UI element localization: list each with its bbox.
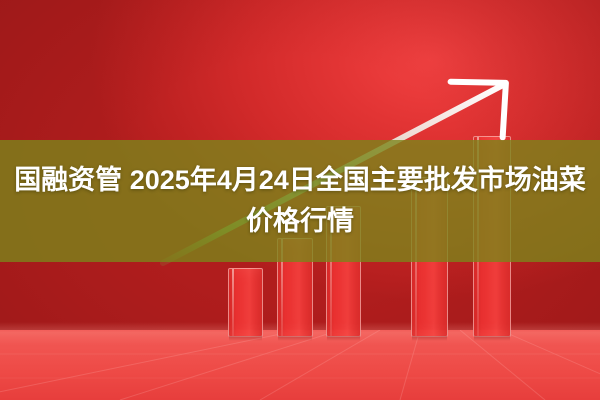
banner-image: 国融资管 2025年4月24日全国主要批发市场油菜价格行情: [0, 0, 600, 400]
page-title: 国融资管 2025年4月24日全国主要批发市场油菜价格行情: [0, 140, 600, 262]
